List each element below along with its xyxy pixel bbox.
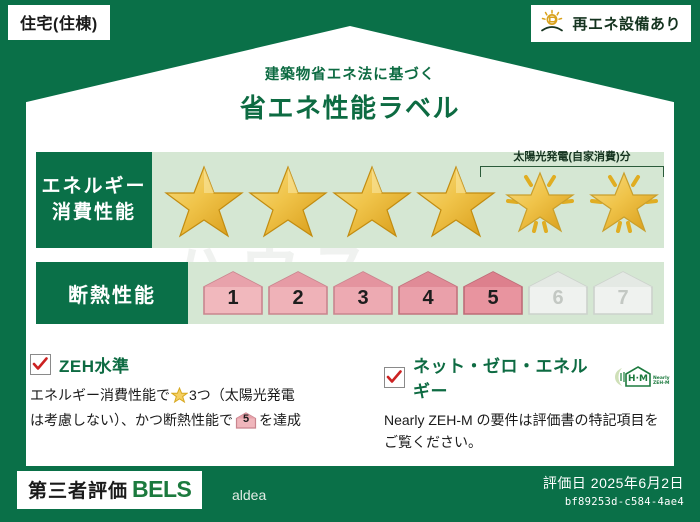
energy-row-label-line1: エネルギー	[41, 174, 146, 200]
zeh-criteria-section: ZEH水準 エネルギー消費性能で3つ（太陽光発電は考慮しない）、かつ断熱性能で5…	[30, 352, 374, 453]
star-icon	[171, 387, 188, 410]
insulation-level-number: 2	[292, 287, 303, 316]
insulation-row-value: 1 2 3	[188, 262, 664, 324]
nearly-zeh-m-logo: H·M Nearly ZEH-M	[612, 364, 670, 390]
solar-bracket	[480, 166, 664, 177]
house-icon: 7	[592, 270, 654, 316]
house-icon: 3	[332, 270, 394, 316]
energy-performance-label: 住宅(住棟) 再エネ設備あり 建築物省エネ法に基づく 省エネ性能ラベル ハウ	[0, 0, 700, 522]
insulation-level-scale: 1 2 3	[188, 270, 654, 316]
svg-text:H·M: H·M	[628, 374, 648, 384]
check-icon	[384, 367, 405, 388]
insulation-performance-row: 断熱性能 1 2	[36, 262, 664, 324]
insulation-level-number: 5	[487, 287, 498, 316]
zeh-body-part3: は考慮しない）、かつ断熱性能で	[30, 412, 233, 428]
insulation-level-number: 1	[227, 287, 238, 316]
zeh-criteria-body: エネルギー消費性能で3つ（太陽光発電は考慮しない）、かつ断熱性能で5を達成	[30, 385, 360, 431]
record-id: bf89253d-c584-4ae4	[543, 496, 684, 508]
star-icon	[164, 161, 244, 239]
zeh-criteria-title: ZEH水準	[59, 352, 130, 377]
net-zero-body: Nearly ZEH-M の要件は評価書の特記項目をご覧ください。	[384, 410, 670, 453]
net-zero-energy-section: ネット・ゼロ・エネルギー H·M Nearly ZEH-M	[374, 352, 670, 453]
zeh-criteria-header: ZEH水準	[30, 352, 360, 377]
star-icon	[332, 161, 412, 239]
house-icon: 2	[267, 270, 329, 316]
star-icon	[248, 161, 328, 239]
page-title: 省エネ性能ラベル	[0, 88, 700, 125]
energy-row-label: エネルギー 消費性能	[36, 152, 152, 248]
house-icon: 6	[527, 270, 589, 316]
bels-evaluation-box: 第三者評価 BELS	[17, 471, 202, 509]
house-icon: 1	[202, 270, 264, 316]
house-icon: 5	[235, 412, 257, 429]
bels-en-label: BELS	[132, 476, 191, 503]
aldea-watermark: aldea	[232, 487, 266, 503]
criteria-sections: ZEH水準 エネルギー消費性能で3つ（太陽光発電は考慮しない）、かつ断熱性能で5…	[30, 352, 670, 453]
label-heading: 建築物省エネ法に基づく 省エネ性能ラベル	[0, 63, 700, 125]
renewable-equipment-badge: 再エネ設備あり	[531, 5, 691, 42]
evaluation-date-block: 評価日 2025年6月2日 bf89253d-c584-4ae4	[543, 473, 684, 508]
insulation-level-number: 4	[422, 287, 433, 316]
sun-solar-icon	[539, 9, 565, 38]
insulation-level-number: 6	[552, 287, 563, 316]
solar-annotation: 太陽光発電(自家消費)分	[472, 148, 672, 177]
energy-row-label-line2: 消費性能	[52, 200, 136, 226]
zeh-body-part1: エネルギー消費性能で	[30, 387, 170, 403]
svg-text:ZEH-M: ZEH-M	[653, 380, 670, 386]
insulation-row-label: 断熱性能	[36, 262, 188, 324]
house-icon: 5	[462, 270, 524, 316]
solar-annotation-label: 太陽光発電(自家消費)分	[472, 148, 672, 164]
insulation-level-number: 7	[617, 287, 628, 316]
insulation-level-number: 3	[357, 287, 368, 316]
evaluation-date: 評価日 2025年6月2日	[543, 473, 684, 493]
bels-jp-label: 第三者評価	[28, 476, 128, 503]
net-zero-title: ネット・ゼロ・エネルギー	[413, 352, 598, 402]
house-icon: 4	[397, 270, 459, 316]
net-zero-header: ネット・ゼロ・エネルギー H·M Nearly ZEH-M	[384, 352, 670, 402]
building-type-tag: 住宅(住棟)	[8, 5, 110, 40]
label-subtitle: 建築物省エネ法に基づく	[0, 63, 700, 84]
house-level-number: 5	[235, 411, 257, 428]
check-icon	[30, 354, 51, 375]
zeh-body-part4: を達成	[259, 412, 301, 428]
renewable-badge-label: 再エネ設備あり	[572, 13, 681, 34]
zeh-body-part2: 3つ（太陽光発電	[189, 387, 295, 403]
